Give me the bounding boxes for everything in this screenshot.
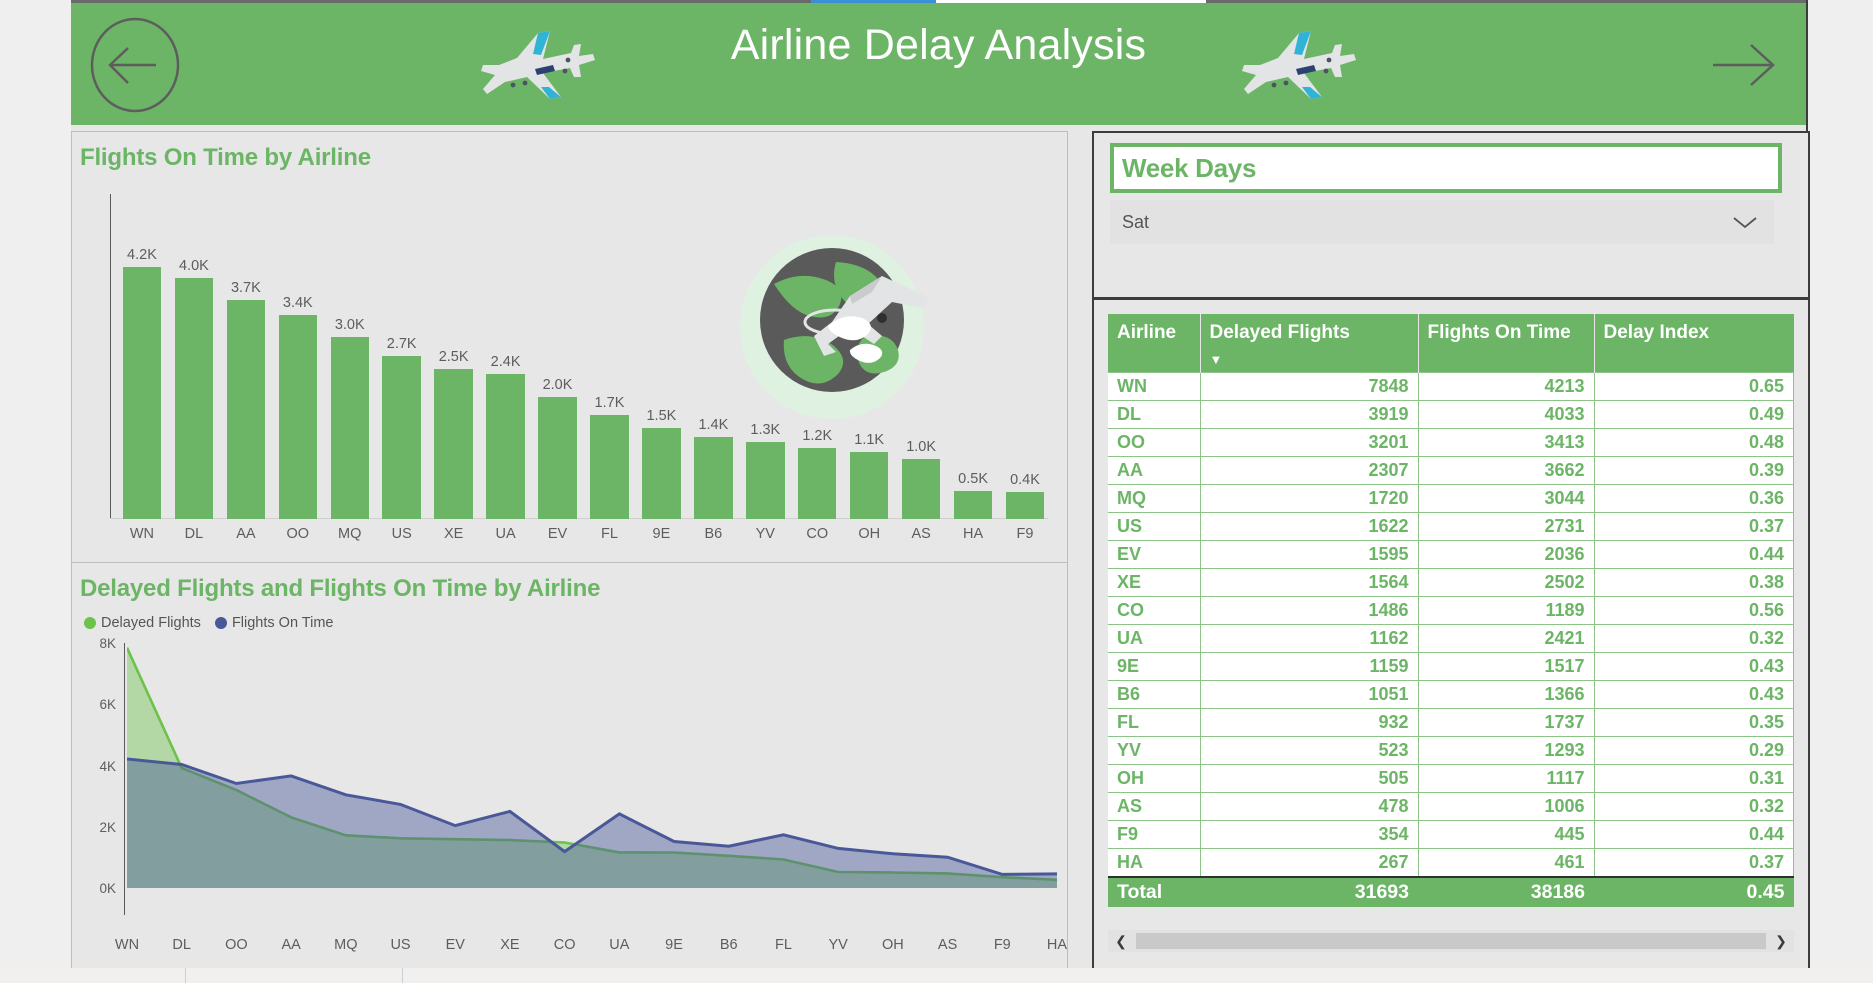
bar-category-label: CO <box>788 526 846 542</box>
area-chart-legend: Delayed Flights Flights On Time <box>84 615 333 631</box>
bar-rect[interactable] <box>746 442 784 519</box>
bar-category-label: EV <box>528 526 586 542</box>
bar-value-label: 2.4K <box>476 354 534 370</box>
cell-delayed-flights: 1486 <box>1200 596 1418 624</box>
bar-rect[interactable] <box>382 356 420 519</box>
cell-airline: F9 <box>1108 820 1200 848</box>
bar-rect[interactable] <box>590 415 628 519</box>
bar-rect[interactable] <box>175 278 213 519</box>
airplane-right-icon <box>1236 25 1366 107</box>
cell-delay-index: 0.31 <box>1594 764 1794 792</box>
cell-airline: EV <box>1108 540 1200 568</box>
cell-airline: 9E <box>1108 652 1200 680</box>
bar-value-label: 2.7K <box>372 336 430 352</box>
cell-delay-index: 0.44 <box>1594 820 1794 848</box>
cell-flights-on-time: 1293 <box>1418 736 1594 764</box>
bar-column[interactable]: 4.0KDL <box>175 194 213 546</box>
cell-delay-index: 0.49 <box>1594 400 1794 428</box>
cell-delay-index: 0.43 <box>1594 652 1794 680</box>
cell-flights-on-time: 2036 <box>1418 540 1594 568</box>
cell-delayed-flights: 1162 <box>1200 624 1418 652</box>
bar-value-label: 2.0K <box>528 377 586 393</box>
bar-value-label: 1.5K <box>632 408 690 424</box>
legend-color-swatch <box>215 617 227 629</box>
cell-flights-on-time: 1366 <box>1418 680 1594 708</box>
cell-flights-on-time: 3662 <box>1418 456 1594 484</box>
cell-delayed-flights: 478 <box>1200 792 1418 820</box>
cell-airline: XE <box>1108 568 1200 596</box>
slicer-dropdown[interactable]: Sat <box>1110 200 1774 244</box>
legend-color-swatch <box>84 617 96 629</box>
week-days-slicer-card[interactable]: Week Days Sat <box>1092 131 1810 299</box>
cell-flights-on-time: 445 <box>1418 820 1594 848</box>
page-title: Airline Delay Analysis <box>71 21 1806 70</box>
x-axis-tick-label: AA <box>281 937 300 953</box>
cell-flights-on-time: 2502 <box>1418 568 1594 596</box>
bar-rect[interactable] <box>798 448 836 519</box>
cell-delay-index: 0.36 <box>1594 484 1794 512</box>
slicer-title-box: Week Days <box>1110 143 1782 193</box>
cell-delay-index: 0.37 <box>1594 848 1794 877</box>
bar-value-label: 1.3K <box>736 422 794 438</box>
cell-delay-index: 0.35 <box>1594 708 1794 736</box>
slicer-title: Week Days <box>1114 153 1256 184</box>
cell-flights-on-time: 1189 <box>1418 596 1594 624</box>
x-axis-tick-label: XE <box>500 937 519 953</box>
bar-column[interactable]: 4.2KWN <box>123 194 161 546</box>
bar-chart-plot: 4.2KWN4.0KDL3.7KAA3.4KOO3.0KMQ2.7KUS2.5K… <box>86 194 1051 546</box>
bar-rect[interactable] <box>434 369 472 519</box>
table-row[interactable]: AS47810060.32 <box>1108 792 1794 820</box>
cell-airline: UA <box>1108 624 1200 652</box>
x-axis-tick-label: YV <box>829 937 848 953</box>
x-axis-tick-label: 9E <box>665 937 683 953</box>
cell-delay-index: 0.43 <box>1594 680 1794 708</box>
bar-rect[interactable] <box>1006 492 1044 519</box>
tab-separator <box>402 968 403 983</box>
bar-value-label: 3.4K <box>269 295 327 311</box>
cell-delayed-flights: 1159 <box>1200 652 1418 680</box>
cell-airline: MQ <box>1108 484 1200 512</box>
bar-column[interactable]: 0.4KF9 <box>1006 194 1044 546</box>
bar-category-label: MQ <box>321 526 379 542</box>
bar-rect[interactable] <box>279 315 317 519</box>
table-row[interactable]: WN784842130.65 <box>1108 372 1794 400</box>
arrow-right-icon <box>1691 15 1793 115</box>
bar-value-label: 3.7K <box>217 280 275 296</box>
cell-delay-index: 0.32 <box>1594 624 1794 652</box>
bar-rect[interactable] <box>850 452 888 519</box>
bar-value-label: 1.2K <box>788 428 846 444</box>
table-row[interactable]: F93544450.44 <box>1108 820 1794 848</box>
cell-delayed-flights: 1051 <box>1200 680 1418 708</box>
bar-column[interactable]: 3.4KOO <box>279 194 317 546</box>
cell-airline: B6 <box>1108 680 1200 708</box>
bar-category-label: DL <box>165 526 223 542</box>
cell-airline: CO <box>1108 596 1200 624</box>
bar-column[interactable]: 1.1KOH <box>850 194 888 546</box>
bar-column[interactable]: 1.3KYV <box>746 194 784 546</box>
table-row[interactable]: CO148611890.56 <box>1108 596 1794 624</box>
bar-category-label: 9E <box>632 526 690 542</box>
bar-rect[interactable] <box>694 437 732 519</box>
bar-column[interactable]: 3.7KAA <box>227 194 265 546</box>
bar-column[interactable]: 0.5KHA <box>954 194 992 546</box>
bar-rect[interactable] <box>331 337 369 519</box>
x-axis-tick-label: OH <box>882 937 904 953</box>
cell-flights-on-time: 1117 <box>1418 764 1594 792</box>
cell-delayed-flights: 3201 <box>1200 428 1418 456</box>
total-ontime: 38186 <box>1418 877 1594 907</box>
table-body: WN784842130.65DL391940330.49OO320134130.… <box>1108 372 1794 907</box>
bar-category-label: HA <box>944 526 1002 542</box>
x-axis-tick-label: HA <box>1047 937 1067 953</box>
bar-category-label: AS <box>892 526 950 542</box>
x-axis-tick-label: OO <box>225 937 248 953</box>
cell-flights-on-time: 4033 <box>1418 400 1594 428</box>
cell-airline: US <box>1108 512 1200 540</box>
next-page-button[interactable] <box>1691 15 1793 115</box>
legend-item-ontime[interactable]: Flights On Time <box>215 615 334 631</box>
table-row[interactable]: OO320134130.48 <box>1108 428 1794 456</box>
bar-value-label: 2.5K <box>424 349 482 365</box>
bar-category-label: B6 <box>684 526 742 542</box>
y-axis-tick-label: 2K <box>82 820 116 835</box>
bar-column[interactable]: 2.5KXE <box>434 194 472 546</box>
bar-rect[interactable] <box>227 300 265 519</box>
bar-category-label: F9 <box>996 526 1054 542</box>
cell-flights-on-time: 1517 <box>1418 652 1594 680</box>
table-horizontal-scrollbar[interactable]: ❮ ❯ <box>1108 930 1794 952</box>
cell-flights-on-time: 461 <box>1418 848 1594 877</box>
cell-delayed-flights: 505 <box>1200 764 1418 792</box>
bar-column[interactable]: 2.0KEV <box>538 194 576 546</box>
bar-series: 4.2KWN4.0KDL3.7KAA3.4KOO3.0KMQ2.7KUS2.5K… <box>116 194 1051 546</box>
bar-value-label: 3.0K <box>321 317 379 333</box>
cell-airline: YV <box>1108 736 1200 764</box>
bar-value-label: 4.0K <box>165 258 223 274</box>
y-axis-tick-label: 8K <box>82 636 116 651</box>
table-row[interactable]: DL391940330.49 <box>1108 400 1794 428</box>
cell-airline: AA <box>1108 456 1200 484</box>
x-axis-tick-label: DL <box>172 937 191 953</box>
cell-delay-index: 0.39 <box>1594 456 1794 484</box>
bar-value-label: 1.7K <box>580 395 638 411</box>
bar-category-label: US <box>372 526 430 542</box>
column-header-label: Flights On Time <box>1428 322 1571 343</box>
bar-value-label: 1.1K <box>840 432 898 448</box>
delayed-vs-ontime-area-chart-card[interactable]: Delayed Flights and Flights On Time by A… <box>71 562 1068 970</box>
cell-airline: FL <box>1108 708 1200 736</box>
total-index: 0.45 <box>1594 877 1794 907</box>
chevron-down-icon[interactable] <box>1730 214 1760 230</box>
bar-value-label: 4.2K <box>113 247 171 263</box>
bar-y-axis-line <box>110 194 111 519</box>
bar-category-label: YV <box>736 526 794 542</box>
cell-delayed-flights: 1622 <box>1200 512 1418 540</box>
area-chart-plot: 0K2K4K6K8K WNDLOOAAMQUSEVXECOUA9EB6FLYVO… <box>82 643 1057 953</box>
cell-delayed-flights: 267 <box>1200 848 1418 877</box>
cell-airline: DL <box>1108 400 1200 428</box>
cell-delay-index: 0.56 <box>1594 596 1794 624</box>
cell-airline: HA <box>1108 848 1200 877</box>
legend-item-delayed[interactable]: Delayed Flights <box>84 615 201 631</box>
y-axis-tick-label: 6K <box>82 697 116 712</box>
scrollbar-thumb[interactable] <box>1136 933 1766 949</box>
bar-column[interactable]: 2.7KUS <box>382 194 420 546</box>
cell-airline: OH <box>1108 764 1200 792</box>
table-row[interactable]: YV52312930.29 <box>1108 736 1794 764</box>
cell-delayed-flights: 2307 <box>1200 456 1418 484</box>
cell-delayed-flights: 3919 <box>1200 400 1418 428</box>
table-header-row: Airline Delayed Flights ▼ Flights On Tim… <box>1108 314 1794 372</box>
x-axis-tick-label: EV <box>446 937 465 953</box>
x-axis-tick-label: WN <box>115 937 139 953</box>
bar-rect[interactable] <box>642 428 680 519</box>
cell-flights-on-time: 1737 <box>1418 708 1594 736</box>
cell-delay-index: 0.32 <box>1594 792 1794 820</box>
bottom-tab-strip[interactable] <box>0 968 1873 983</box>
cell-flights-on-time: 3044 <box>1418 484 1594 512</box>
total-airline: Total <box>1108 877 1200 907</box>
table-row[interactable]: XE156425020.38 <box>1108 568 1794 596</box>
cell-delay-index: 0.37 <box>1594 512 1794 540</box>
bar-column[interactable]: 1.0KAS <box>902 194 940 546</box>
area-series-svg <box>127 643 1057 915</box>
cell-flights-on-time: 4213 <box>1418 372 1594 400</box>
bar-category-label: OH <box>840 526 898 542</box>
cell-delayed-flights: 1595 <box>1200 540 1418 568</box>
sort-descending-icon[interactable]: ▼ <box>1210 356 1409 364</box>
column-header-label: Airline <box>1117 322 1176 343</box>
table-row[interactable]: B6105113660.43 <box>1108 680 1794 708</box>
cell-airline: AS <box>1108 792 1200 820</box>
x-axis-tick-label: UA <box>609 937 629 953</box>
table-total-row: Total31693381860.45 <box>1108 877 1794 907</box>
bar-rect[interactable] <box>538 397 576 519</box>
column-header-delay-index[interactable]: Delay Index <box>1594 314 1794 372</box>
legend-label: Flights On Time <box>232 615 334 631</box>
scroll-left-arrow-icon[interactable]: ❮ <box>1108 933 1134 950</box>
table-row[interactable]: US162227310.37 <box>1108 512 1794 540</box>
bar-rect[interactable] <box>954 491 992 519</box>
bar-category-label: UA <box>476 526 534 542</box>
cell-flights-on-time: 2421 <box>1418 624 1594 652</box>
bar-category-label: XE <box>424 526 482 542</box>
column-header-airline[interactable]: Airline <box>1108 314 1200 372</box>
table-row[interactable]: HA2674610.37 <box>1108 848 1794 877</box>
bar-rect[interactable] <box>902 459 940 519</box>
x-axis-tick-label: FL <box>775 937 792 953</box>
cell-flights-on-time: 3413 <box>1418 428 1594 456</box>
bar-column[interactable]: 1.7KFL <box>590 194 628 546</box>
cell-delayed-flights: 932 <box>1200 708 1418 736</box>
bar-column[interactable]: 3.0KMQ <box>331 194 369 546</box>
bar-category-label: OO <box>269 526 327 542</box>
total-delayed: 31693 <box>1200 877 1418 907</box>
column-header-flights-on-time[interactable]: Flights On Time <box>1418 314 1594 372</box>
area-y-axis-line <box>124 643 125 915</box>
scroll-right-arrow-icon[interactable]: ❯ <box>1768 933 1794 950</box>
report-page: Airline Delay Analysis Flights On Time b… <box>0 0 1873 983</box>
column-header-label: Delay Index <box>1604 322 1710 343</box>
cell-delay-index: 0.48 <box>1594 428 1794 456</box>
table-row[interactable]: FL93217370.35 <box>1108 708 1794 736</box>
legend-label: Delayed Flights <box>101 615 201 631</box>
bar-value-label: 1.4K <box>684 417 742 433</box>
bar-rect[interactable] <box>123 267 161 519</box>
airline-delay-table-card[interactable]: Airline Delayed Flights ▼ Flights On Tim… <box>1092 298 1810 970</box>
bar-column[interactable]: 1.5K9E <box>642 194 680 546</box>
cell-delayed-flights: 7848 <box>1200 372 1418 400</box>
bar-value-label: 0.4K <box>996 472 1054 488</box>
cell-delayed-flights: 1720 <box>1200 484 1418 512</box>
flights-on-time-bar-chart-card[interactable]: Flights On Time by Airline 4.2KWN4.0KDL3… <box>71 131 1068 563</box>
cell-flights-on-time: 1006 <box>1418 792 1594 820</box>
x-axis-tick-label: B6 <box>720 937 738 953</box>
bar-chart-title: Flights On Time by Airline <box>80 144 371 172</box>
cell-delay-index: 0.65 <box>1594 372 1794 400</box>
x-axis-tick-label: AS <box>938 937 957 953</box>
x-axis-tick-label: MQ <box>334 937 357 953</box>
slicer-selected-value: Sat <box>1122 212 1149 233</box>
cell-delayed-flights: 1564 <box>1200 568 1418 596</box>
bar-category-label: FL <box>580 526 638 542</box>
x-axis-tick-label: CO <box>554 937 576 953</box>
bar-category-label: WN <box>113 526 171 542</box>
cell-airline: WN <box>1108 372 1200 400</box>
table-row[interactable]: 9E115915170.43 <box>1108 652 1794 680</box>
table-row[interactable]: OH50511170.31 <box>1108 764 1794 792</box>
header-banner: Airline Delay Analysis <box>71 3 1806 125</box>
bar-column[interactable]: 1.4KB6 <box>694 194 732 546</box>
cell-delayed-flights: 523 <box>1200 736 1418 764</box>
table-row[interactable]: AA230736620.39 <box>1108 456 1794 484</box>
table-row[interactable]: MQ172030440.36 <box>1108 484 1794 512</box>
cell-flights-on-time: 2731 <box>1418 512 1594 540</box>
bar-category-label: AA <box>217 526 275 542</box>
bar-column[interactable]: 1.2KCO <box>798 194 836 546</box>
column-header-delayed-flights[interactable]: Delayed Flights ▼ <box>1200 314 1418 372</box>
cell-delay-index: 0.44 <box>1594 540 1794 568</box>
x-axis-tick-label: F9 <box>994 937 1011 953</box>
bar-value-label: 1.0K <box>892 439 950 455</box>
airline-delay-table[interactable]: Airline Delayed Flights ▼ Flights On Tim… <box>1108 314 1794 907</box>
table-row[interactable]: UA116224210.32 <box>1108 624 1794 652</box>
y-axis-tick-label: 4K <box>82 759 116 774</box>
y-axis-tick-label: 0K <box>82 881 116 896</box>
cell-airline: OO <box>1108 428 1200 456</box>
bar-rect[interactable] <box>486 374 524 519</box>
cell-delay-index: 0.38 <box>1594 568 1794 596</box>
bar-value-label: 0.5K <box>944 471 1002 487</box>
cell-delayed-flights: 354 <box>1200 820 1418 848</box>
cell-delay-index: 0.29 <box>1594 736 1794 764</box>
column-header-label: Delayed Flights <box>1210 322 1350 343</box>
x-axis-tick-label: US <box>390 937 410 953</box>
area-chart-title: Delayed Flights and Flights On Time by A… <box>80 575 600 603</box>
bar-column[interactable]: 2.4KUA <box>486 194 524 546</box>
tab-separator <box>185 968 186 983</box>
table-row[interactable]: EV159520360.44 <box>1108 540 1794 568</box>
